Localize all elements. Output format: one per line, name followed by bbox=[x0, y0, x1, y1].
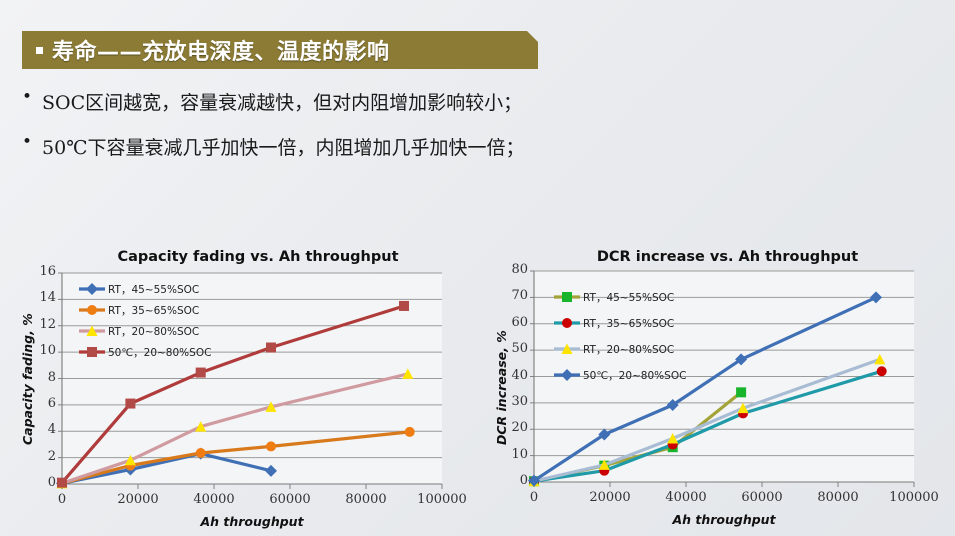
legend-label: RT，45~55%SOC bbox=[583, 290, 674, 305]
legend-marker bbox=[87, 305, 97, 315]
data-point-marker bbox=[87, 305, 97, 315]
y-tick-label: 80 bbox=[490, 262, 528, 277]
y-tick-label: 10 bbox=[490, 447, 528, 462]
data-point-marker bbox=[196, 448, 206, 458]
legend-label: RT，20~80%SOC bbox=[108, 324, 199, 339]
data-point-marker bbox=[399, 301, 409, 311]
data-point-marker bbox=[125, 399, 135, 409]
data-point-marker bbox=[877, 366, 887, 376]
y-tick-label: 50 bbox=[490, 341, 528, 356]
y-tick-label: 4 bbox=[18, 422, 56, 437]
legend-label: RT，45~55%SOC bbox=[108, 282, 199, 297]
data-point-marker bbox=[562, 318, 572, 328]
y-tick-label: 60 bbox=[490, 315, 528, 330]
y-tick-label: 70 bbox=[490, 288, 528, 303]
y-tick-label: 0 bbox=[490, 473, 528, 488]
x-tick-label: 40000 bbox=[174, 492, 254, 507]
data-point-marker bbox=[266, 441, 276, 451]
x-tick-label: 20000 bbox=[570, 490, 650, 505]
x-tick-label: 100000 bbox=[402, 492, 482, 507]
bullet-text-2: 50℃下容量衰减几乎加快一倍，内阻增加几乎加快一倍； bbox=[42, 133, 524, 160]
bullet-item-1: • SOC区间越宽，容量衰减越快，但对内阻增加影响较小； bbox=[22, 88, 522, 115]
x-tick-label: 0 bbox=[494, 490, 574, 505]
legend-label: RT，35~65%SOC bbox=[108, 303, 199, 318]
y-tick-label: 40 bbox=[490, 368, 528, 383]
x-tick-label: 40000 bbox=[646, 490, 726, 505]
x-tick-label: 0 bbox=[22, 492, 102, 507]
x-tick-label: 80000 bbox=[326, 492, 406, 507]
capacity-fading-chart: Capacity fading vs. Ah throughput Capaci… bbox=[4, 245, 482, 536]
legend-marker bbox=[87, 347, 97, 357]
bullet-text-1: SOC区间越宽，容量衰减越快，但对内阻增加影响较小； bbox=[42, 88, 522, 115]
y-tick-label: 10 bbox=[18, 343, 56, 358]
data-point-marker bbox=[736, 387, 746, 397]
data-point-marker bbox=[87, 347, 97, 357]
legend-marker bbox=[562, 292, 572, 302]
y-tick-label: 0 bbox=[18, 475, 56, 490]
x-tick-label: 20000 bbox=[98, 492, 178, 507]
dcr-increase-chart: DCR increase vs. Ah throughput DCR incre… bbox=[482, 245, 955, 536]
square-bullet-icon bbox=[36, 47, 43, 54]
data-point-marker bbox=[405, 427, 415, 437]
y-tick-label: 30 bbox=[490, 394, 528, 409]
y-tick-label: 8 bbox=[18, 370, 56, 385]
y-tick-label: 20 bbox=[490, 420, 528, 435]
y-tick-label: 14 bbox=[18, 290, 56, 305]
y-tick-label: 6 bbox=[18, 396, 56, 411]
legend-label: 50℃，20~80%SOC bbox=[583, 368, 686, 383]
data-point-marker bbox=[266, 343, 276, 353]
y-tick-label: 16 bbox=[18, 264, 56, 279]
data-point-marker bbox=[562, 292, 572, 302]
x-tick-label: 100000 bbox=[874, 490, 954, 505]
bullet-marker-icon: • bbox=[22, 88, 32, 107]
slide-title: 寿命——充放电深度、温度的影响 bbox=[52, 34, 390, 66]
legend-label: 50℃，20~80%SOC bbox=[108, 345, 211, 360]
legend-label: RT，20~80%SOC bbox=[583, 342, 674, 357]
data-point-marker bbox=[57, 478, 67, 488]
y-tick-label: 12 bbox=[18, 317, 56, 332]
x-tick-label: 60000 bbox=[722, 490, 802, 505]
legend-label: RT，35~65%SOC bbox=[583, 316, 674, 331]
slide-title-bar: 寿命——充放电深度、温度的影响 bbox=[22, 31, 538, 69]
legend-marker bbox=[562, 318, 572, 328]
y-tick-label: 2 bbox=[18, 449, 56, 464]
x-tick-label: 60000 bbox=[250, 492, 330, 507]
bullet-item-2: • 50℃下容量衰减几乎加快一倍，内阻增加几乎加快一倍； bbox=[22, 133, 524, 160]
bullet-marker-icon: • bbox=[22, 133, 32, 152]
x-tick-label: 80000 bbox=[798, 490, 878, 505]
data-point-marker bbox=[196, 368, 206, 378]
